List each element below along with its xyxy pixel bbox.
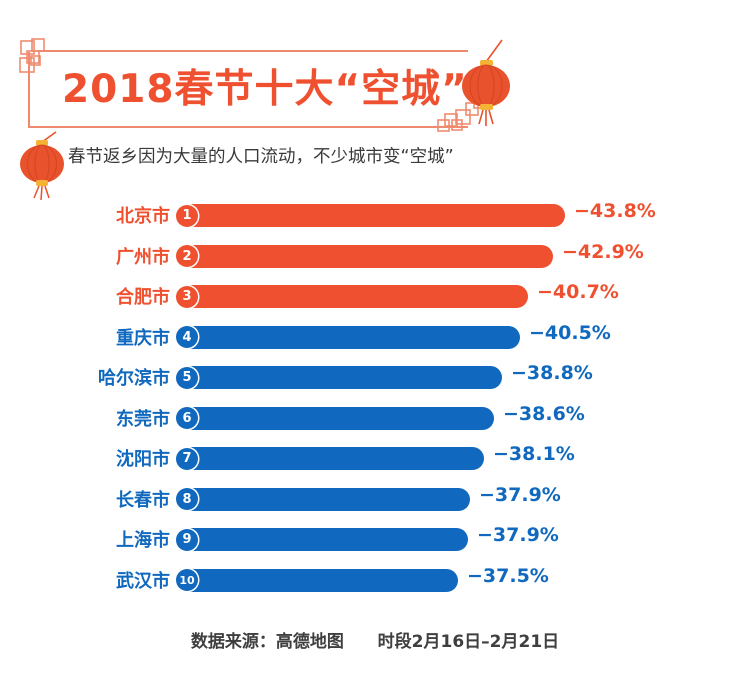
bar-fill — [176, 528, 468, 551]
bar-chart: 北京市1−43.8%广州市2−42.9%合肥市3−40.7%重庆市4−40.5%… — [0, 196, 750, 601]
bar-row: 合肥市3−40.7% — [0, 277, 750, 318]
bar-value-label: −38.6% — [503, 403, 585, 425]
frame-bottom-line — [28, 126, 468, 128]
bar-rank-badge: 9 — [176, 529, 198, 551]
bar-track: 6 — [176, 407, 494, 430]
bar-fill — [176, 285, 528, 308]
bar-city-label: 长春市 — [60, 486, 170, 512]
bar-track: 3 — [176, 285, 528, 308]
bar-value-label: −40.5% — [529, 322, 611, 344]
bar-row: 哈尔滨市5−38.8% — [0, 358, 750, 399]
bar-row: 武汉市10−37.5% — [0, 561, 750, 602]
bar-row: 重庆市4−40.5% — [0, 318, 750, 359]
bar-track: 5 — [176, 366, 502, 389]
bar-row: 广州市2−42.9% — [0, 237, 750, 278]
bar-city-label: 合肥市 — [60, 283, 170, 309]
bar-fill — [176, 447, 484, 470]
bar-value-label: −37.9% — [479, 484, 561, 506]
lantern-icon — [452, 36, 522, 141]
bar-value-label: −37.5% — [467, 565, 549, 587]
bar-rank-badge: 6 — [176, 407, 198, 429]
page-subtitle: 春节返乡因为大量的人口流动，不少城市变“空城” — [68, 143, 454, 168]
bar-row: 东莞市6−38.6% — [0, 399, 750, 440]
bar-fill — [176, 488, 470, 511]
bar-value-label: −37.9% — [477, 524, 559, 546]
lantern-small-icon — [12, 128, 74, 204]
bar-city-label: 北京市 — [60, 202, 170, 228]
bar-value-label: −42.9% — [562, 241, 644, 263]
chart-footer: 数据来源：高德地图 时段2月16日–2月21日 — [0, 627, 750, 652]
bar-row: 长春市8−37.9% — [0, 480, 750, 521]
bar-row: 沈阳市7−38.1% — [0, 439, 750, 480]
bar-track: 1 — [176, 204, 565, 227]
page-title: 2018春节十大“空城” — [62, 58, 468, 114]
frame-top-line — [38, 50, 468, 52]
bar-city-label: 武汉市 — [60, 567, 170, 593]
bar-city-label: 重庆市 — [60, 324, 170, 350]
bar-fill — [176, 326, 520, 349]
bar-fill — [176, 245, 553, 268]
bar-rank-badge: 8 — [176, 488, 198, 510]
bar-city-label: 上海市 — [60, 526, 170, 552]
bar-city-label: 沈阳市 — [60, 445, 170, 471]
bar-track: 10 — [176, 569, 458, 592]
footer-source: 数据来源：高德地图 — [191, 632, 344, 652]
bar-track: 8 — [176, 488, 470, 511]
bar-rank-badge: 7 — [176, 448, 198, 470]
bar-fill — [176, 366, 502, 389]
bar-rank-badge: 5 — [176, 367, 198, 389]
bar-value-label: −38.1% — [493, 443, 575, 465]
bar-city-label: 广州市 — [60, 243, 170, 269]
bar-city-label: 哈尔滨市 — [60, 364, 170, 390]
bar-value-label: −43.8% — [574, 200, 656, 222]
bar-rank-badge: 3 — [176, 286, 198, 308]
bar-rank-badge: 2 — [176, 245, 198, 267]
bar-fill — [176, 204, 565, 227]
bar-value-label: −40.7% — [537, 281, 619, 303]
bar-track: 9 — [176, 528, 468, 551]
bar-fill — [176, 569, 458, 592]
bar-rank-badge: 1 — [176, 205, 198, 227]
bar-rank-badge: 4 — [176, 326, 198, 348]
bar-track: 7 — [176, 447, 484, 470]
bar-city-label: 东莞市 — [60, 405, 170, 431]
bar-track: 2 — [176, 245, 553, 268]
bar-row: 北京市1−43.8% — [0, 196, 750, 237]
bar-row: 上海市9−37.9% — [0, 520, 750, 561]
bar-value-label: −38.8% — [511, 362, 593, 384]
footer-period: 时段2月16日–2月21日 — [378, 632, 559, 652]
bar-track: 4 — [176, 326, 520, 349]
bar-fill — [176, 407, 494, 430]
infographic-canvas: 2018春节十大“空城” 春节返乡因为大量的人口 — [0, 0, 750, 693]
bar-rank-badge: 10 — [176, 569, 198, 591]
